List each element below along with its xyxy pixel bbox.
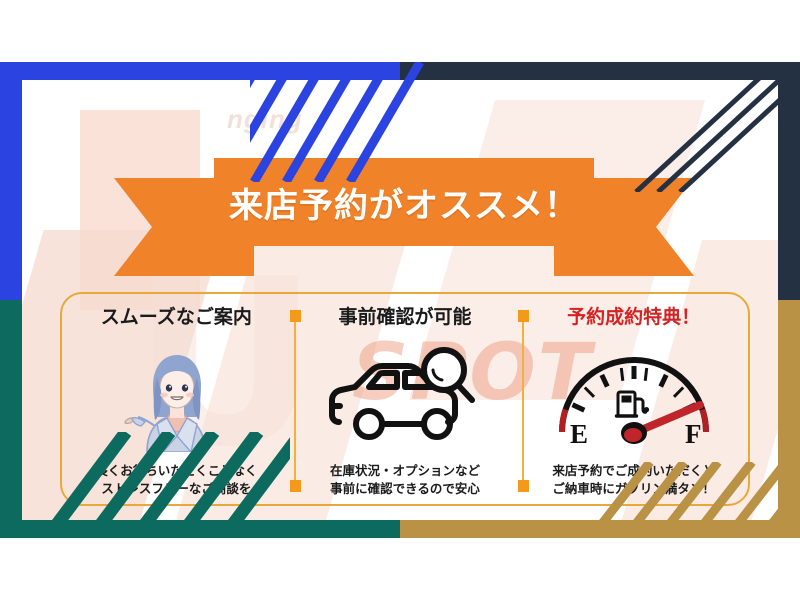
watermark-top-text: nging — [227, 104, 303, 135]
woman-consultant-illustration — [64, 331, 289, 462]
feature-title: 予約成約特典！ — [567, 302, 700, 329]
feature-desc-line-1: 在庫状況・オプションなど — [330, 462, 480, 480]
inner-white-card: U nging SPOT 来店予約がオススメ！ スムーズなご案内 — [22, 80, 778, 520]
feature-desc-line-2: 事前に確認できるので安心 — [330, 480, 480, 498]
feature-description: 来店予約でご成約いただくと ご納車時にガソリン満タン！ — [552, 462, 715, 498]
feature-desc-line-2: ご納車時にガソリン満タン！ — [552, 480, 715, 498]
ribbon-body: 来店予約がオススメ！ — [214, 158, 594, 246]
banner-headline: 来店予約がオススメ！ — [229, 178, 579, 227]
feature-column-precheck: 事前確認が可能 — [291, 294, 520, 504]
feature-desc-line-1: 長くお待ちいただくことなく — [95, 462, 257, 480]
feature-description: 長くお待ちいただくことなく ストレスフリーなご商談を — [95, 462, 257, 498]
promo-banner-stage: U nging SPOT 来店予約がオススメ！ スムーズなご案内 — [0, 0, 800, 600]
feature-panel: スムーズなご案内 — [60, 292, 750, 506]
artwork-area: U nging SPOT 来店予約がオススメ！ スムーズなご案内 — [0, 62, 800, 538]
feature-column-bonus: 予約成約特典！ — [519, 294, 748, 504]
feature-desc-line-1: 来店予約でご成約いただくと — [552, 462, 715, 480]
gauge-empty-label: E — [570, 419, 588, 448]
fuel-gauge-icon: E F — [521, 331, 746, 462]
feature-title: スムーズなご案内 — [101, 302, 252, 329]
feature-desc-line-2: ストレスフリーなご商談を — [95, 480, 257, 498]
feature-column-smooth: スムーズなご案内 — [62, 294, 291, 504]
car-magnifier-icon — [293, 331, 518, 462]
ribbon-banner: 来店予約がオススメ！ — [114, 158, 694, 276]
feature-title: 事前確認が可能 — [339, 302, 472, 329]
gauge-full-label: F — [685, 419, 702, 448]
feature-description: 在庫状況・オプションなど 事前に確認できるので安心 — [330, 462, 480, 498]
